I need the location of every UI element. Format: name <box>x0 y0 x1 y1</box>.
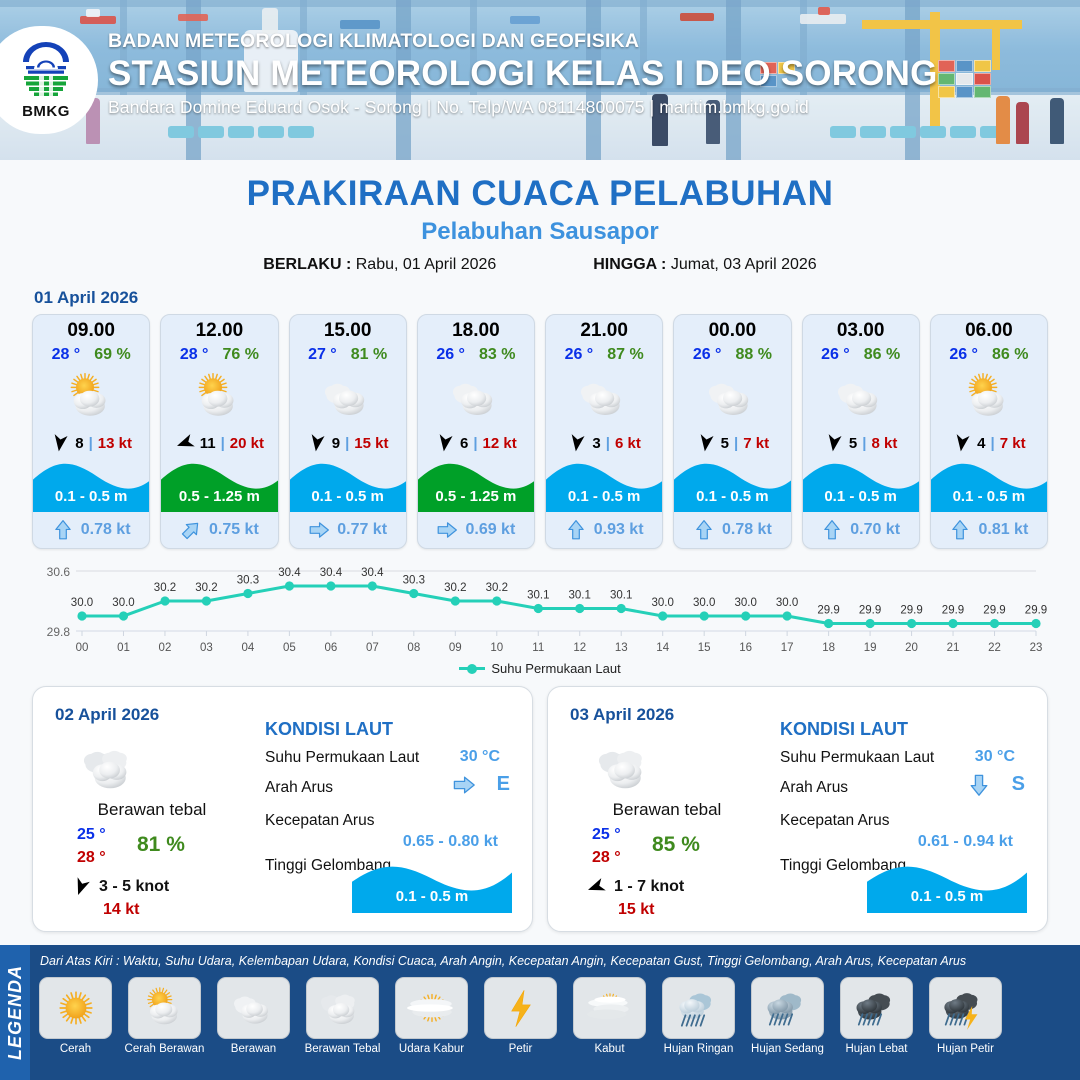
svg-text:10: 10 <box>490 642 503 654</box>
card-wind-row: 5 | 8 kt <box>803 433 919 453</box>
svg-text:30.2: 30.2 <box>444 582 466 594</box>
legend-note: Dari Atas Kiri : Waktu, Suhu Udara, Kele… <box>40 954 966 968</box>
card-temperature: 27 ° <box>308 346 337 364</box>
wind-direction-arrow-icon <box>567 433 587 453</box>
forecast-day-label: 01 April 2026 <box>34 288 1080 308</box>
svg-text:22: 22 <box>988 642 1001 654</box>
current-direction-arrow-icon <box>308 519 330 541</box>
card-wave-block: 0.1 - 0.5 m <box>546 458 662 512</box>
wind-separator: | <box>345 435 349 452</box>
card-wave-height: 0.1 - 0.5 m <box>931 488 1047 505</box>
card-wave-block: 0.1 - 0.5 m <box>674 458 790 512</box>
weather-berawan-tebal-icon <box>594 735 660 801</box>
svg-text:08: 08 <box>407 642 420 654</box>
svg-text:29.8: 29.8 <box>47 625 71 639</box>
panel-temp-max: 28 ° <box>592 846 621 869</box>
legend-item: Cerah Berawan <box>123 977 206 1055</box>
svg-text:30.1: 30.1 <box>527 590 549 602</box>
card-humidity: 69 % <box>94 346 130 364</box>
svg-text:14: 14 <box>656 642 669 654</box>
header-text-block: BADAN METEOROLOGI KLIMATOLOGI DAN GEOFIS… <box>108 30 938 118</box>
card-time: 03.00 <box>803 320 919 342</box>
legend-item-label: Berawan Tebal <box>301 1043 384 1055</box>
svg-text:30.0: 30.0 <box>652 597 674 609</box>
weather-cerah-berawan-icon <box>33 366 149 428</box>
card-temperature: 26 ° <box>436 346 465 364</box>
legend-item-label: Hujan Sedang <box>746 1043 829 1055</box>
svg-text:30.1: 30.1 <box>610 590 632 602</box>
svg-text:16: 16 <box>739 642 752 654</box>
card-wave-height: 0.1 - 0.5 m <box>33 488 149 505</box>
legend-item: Kabut <box>568 977 651 1055</box>
weather-hujan-ringan-icon <box>662 977 735 1039</box>
legend-item-label: Hujan Lebat <box>835 1043 918 1055</box>
panel-wind-speed: 1 - 7 knot <box>614 878 684 896</box>
current-direction-label: Arah Arus <box>780 779 848 797</box>
current-direction-arrow-icon <box>52 519 74 541</box>
wind-separator: | <box>734 435 738 452</box>
svg-text:29.9: 29.9 <box>942 605 964 617</box>
valid-until-label: HINGGA : <box>593 256 666 273</box>
card-wind-speed: 4 <box>977 435 985 452</box>
card-wind-row: 8 | 13 kt <box>33 433 149 453</box>
current-direction-arrow-icon <box>967 773 991 797</box>
agency-name: BADAN METEOROLOGI KLIMATOLOGI DAN GEOFIS… <box>108 30 938 53</box>
panel-wave-block: 0.1 - 0.5 m <box>352 861 512 913</box>
daily-forecast-panel: 02 April 2026 Berawan tebal 25 ° 28 ° 81… <box>32 686 533 932</box>
current-direction-arrow-icon <box>436 519 458 541</box>
hourly-forecast-card: 12.00 28 ° 76 % 11 | 20 kt <box>160 314 278 549</box>
card-wave-height: 0.5 - 1.25 m <box>418 488 534 505</box>
svg-text:05: 05 <box>283 642 296 654</box>
svg-text:17: 17 <box>781 642 794 654</box>
card-humidity: 88 % <box>735 346 771 364</box>
panel-temperature-range: 25 ° 28 ° <box>77 823 106 869</box>
svg-text:30.2: 30.2 <box>195 582 217 594</box>
panel-date: 03 April 2026 <box>570 705 674 725</box>
weather-cerah-berawan-icon <box>161 366 277 428</box>
current-direction-arrow-icon <box>565 519 587 541</box>
panel-wave-height: 0.1 - 0.5 m <box>867 888 1027 905</box>
panel-temp-max: 28 ° <box>77 846 106 869</box>
wind-direction-arrow-icon <box>696 433 716 453</box>
svg-text:30.0: 30.0 <box>735 597 757 609</box>
card-wind-row: 9 | 15 kt <box>290 433 406 453</box>
weather-berawan-tebal-icon <box>79 735 145 801</box>
svg-text:04: 04 <box>242 642 255 654</box>
legend-item-label: Hujan Ringan <box>657 1043 740 1055</box>
hourly-forecast-card: 00.00 26 ° 88 % 5 | 7 kt 0 <box>673 314 791 549</box>
card-current-speed: 0.78 kt <box>81 521 131 539</box>
weather-hujan-lebat-icon <box>840 977 913 1039</box>
svg-text:12: 12 <box>573 642 586 654</box>
card-gust: 12 kt <box>483 435 517 452</box>
legend-item: Udara Kabur <box>390 977 473 1055</box>
svg-text:30.4: 30.4 <box>361 567 384 579</box>
card-wave-height: 0.1 - 0.5 m <box>803 488 919 505</box>
panel-temperature-range: 25 ° 28 ° <box>592 823 621 869</box>
wind-direction-arrow-icon <box>824 433 844 453</box>
page-header: BMKG BADAN METEOROLOGI KLIMATOLOGI DAN G… <box>0 0 1080 160</box>
card-time: 18.00 <box>418 320 534 342</box>
card-temperature: 28 ° <box>52 346 81 364</box>
current-direction-label: Arah Arus <box>265 779 333 797</box>
hourly-forecast-card: 21.00 26 ° 87 % 3 | 6 kt 0 <box>545 314 663 549</box>
hourly-forecast-card: 15.00 27 ° 81 % 9 | 15 kt <box>289 314 407 549</box>
wind-direction-arrow-icon <box>71 877 91 897</box>
card-wind-speed: 9 <box>332 435 340 452</box>
hourly-forecast-card: 03.00 26 ° 86 % 5 | 8 kt 0 <box>802 314 920 549</box>
card-current-row: 0.70 kt <box>803 512 919 548</box>
card-wind-row: 3 | 6 kt <box>546 433 662 453</box>
daily-forecast-panel: 03 April 2026 Berawan tebal 25 ° 28 ° 85… <box>547 686 1048 932</box>
card-current-speed: 0.75 kt <box>209 521 259 539</box>
card-current-row: 0.69 kt <box>418 512 534 548</box>
svg-text:29.9: 29.9 <box>1025 605 1047 617</box>
card-gust: 13 kt <box>98 435 132 452</box>
svg-text:06: 06 <box>324 642 337 654</box>
card-current-speed: 0.81 kt <box>978 521 1028 539</box>
svg-text:18: 18 <box>822 642 835 654</box>
legend-item-label: Cerah Berawan <box>123 1043 206 1055</box>
current-speed-label: Kecepatan Arus <box>265 812 374 830</box>
svg-text:30.0: 30.0 <box>693 597 715 609</box>
current-speed-value: 0.61 - 0.94 kt <box>918 833 1013 851</box>
card-wave-block: 0.1 - 0.5 m <box>290 458 406 512</box>
wind-separator: | <box>221 435 225 452</box>
card-wave-height: 0.1 - 0.5 m <box>290 488 406 505</box>
card-current-speed: 0.70 kt <box>850 521 900 539</box>
title-block: PRAKIRAAN CUACA PELABUHAN Pelabuhan Saus… <box>0 160 1080 274</box>
legend-item: Hujan Lebat <box>835 977 918 1055</box>
svg-text:29.9: 29.9 <box>900 605 922 617</box>
card-wave-height: 0.1 - 0.5 m <box>674 488 790 505</box>
svg-text:19: 19 <box>864 642 877 654</box>
sst-label: Suhu Permukaan Laut <box>780 749 934 767</box>
panel-gust: 14 kt <box>103 901 139 919</box>
card-gust: 7 kt <box>743 435 769 452</box>
chart-legend-label: Suhu Permukaan Laut <box>491 661 620 676</box>
card-wind-speed: 3 <box>592 435 600 452</box>
current-direction-value: E <box>497 773 510 796</box>
svg-text:00: 00 <box>76 642 89 654</box>
card-temp-humidity-row: 28 ° 69 % <box>33 346 149 364</box>
wind-separator: | <box>606 435 610 452</box>
weather-kabut-icon <box>573 977 646 1039</box>
current-direction-arrow-icon <box>693 519 715 541</box>
card-wave-block: 0.5 - 1.25 m <box>418 458 534 512</box>
weather-cerah-berawan-icon <box>128 977 201 1039</box>
card-humidity: 86 % <box>992 346 1028 364</box>
current-speed-value: 0.65 - 0.80 kt <box>403 833 498 851</box>
current-direction-arrow-icon <box>452 773 476 797</box>
card-humidity: 86 % <box>864 346 900 364</box>
wind-direction-arrow-icon <box>175 433 195 453</box>
card-temp-humidity-row: 26 ° 87 % <box>546 346 662 364</box>
card-gust: 15 kt <box>354 435 388 452</box>
weather-udara-kabur-icon <box>395 977 468 1039</box>
panel-temp-min: 25 ° <box>77 823 106 846</box>
legend-item: Berawan <box>212 977 295 1055</box>
card-wind-speed: 5 <box>849 435 857 452</box>
svg-text:30.2: 30.2 <box>154 582 176 594</box>
legend-bar: LEGENDA Dari Atas Kiri : Waktu, Suhu Uda… <box>0 945 1080 1080</box>
weather-petir-icon <box>484 977 557 1039</box>
svg-text:20: 20 <box>905 642 918 654</box>
station-name: STASIUN METEOROLOGI KELAS I DEO SORONG <box>108 53 938 94</box>
card-wave-block: 0.1 - 0.5 m <box>33 458 149 512</box>
card-current-row: 0.78 kt <box>674 512 790 548</box>
page-title: PRAKIRAAN CUACA PELABUHAN <box>0 174 1080 214</box>
hourly-forecast-card: 09.00 28 ° 69 % 8 | 13 kt <box>32 314 150 549</box>
card-wave-block: 0.1 - 0.5 m <box>931 458 1047 512</box>
panel-condition: Berawan tebal <box>47 800 257 820</box>
svg-text:29.9: 29.9 <box>817 605 839 617</box>
panel-gust: 15 kt <box>618 901 654 919</box>
valid-until-value: Jumat, 03 April 2026 <box>671 256 817 273</box>
svg-text:30.0: 30.0 <box>112 597 134 609</box>
legend-item-label: Cerah <box>34 1043 117 1055</box>
weather-hujan-petir-icon <box>929 977 1002 1039</box>
card-time: 12.00 <box>161 320 277 342</box>
card-gust: 20 kt <box>230 435 264 452</box>
card-wind-speed: 8 <box>75 435 83 452</box>
bmkg-logo-mark <box>15 40 77 102</box>
wind-direction-arrow-icon <box>435 433 455 453</box>
card-temp-humidity-row: 26 ° 83 % <box>418 346 534 364</box>
svg-text:23: 23 <box>1030 642 1043 654</box>
legend-item: Hujan Petir <box>924 977 1007 1055</box>
card-temperature: 26 ° <box>949 346 978 364</box>
svg-text:30.4: 30.4 <box>320 567 343 579</box>
svg-text:03: 03 <box>200 642 213 654</box>
svg-text:09: 09 <box>449 642 462 654</box>
svg-text:01: 01 <box>117 642 130 654</box>
current-direction-value: S <box>1012 773 1025 796</box>
panel-date: 02 April 2026 <box>55 705 159 725</box>
card-time: 21.00 <box>546 320 662 342</box>
legend-icon-list: Cerah Cerah Berawan <box>34 977 1074 1055</box>
weather-berawan-icon <box>290 366 406 428</box>
panel-humidity: 85 % <box>652 833 700 857</box>
card-temp-humidity-row: 26 ° 88 % <box>674 346 790 364</box>
hourly-forecast-card: 06.00 26 ° 86 % 4 | 7 kt 0 <box>930 314 1048 549</box>
card-gust: 6 kt <box>615 435 641 452</box>
card-temp-humidity-row: 26 ° 86 % <box>931 346 1047 364</box>
bmkg-logo-text: BMKG <box>22 103 70 120</box>
legend-item-label: Petir <box>479 1043 562 1055</box>
weather-cerah-icon <box>39 977 112 1039</box>
card-current-row: 0.81 kt <box>931 512 1047 548</box>
weather-berawan-icon <box>418 366 534 428</box>
validity-row: BERLAKU : Rabu, 01 April 2026 HINGGA : J… <box>0 256 1080 274</box>
card-humidity: 76 % <box>222 346 258 364</box>
card-wave-height: 0.1 - 0.5 m <box>546 488 662 505</box>
legend-item-label: Kabut <box>568 1043 651 1055</box>
card-time: 00.00 <box>674 320 790 342</box>
card-temp-humidity-row: 28 ° 76 % <box>161 346 277 364</box>
wind-direction-arrow-icon <box>307 433 327 453</box>
legend-side-text: LEGENDA <box>5 965 26 1060</box>
wind-separator: | <box>89 435 93 452</box>
legend-item-label: Udara Kabur <box>390 1043 473 1055</box>
card-temperature: 26 ° <box>565 346 594 364</box>
card-wind-row: 6 | 12 kt <box>418 433 534 453</box>
card-current-row: 0.93 kt <box>546 512 662 548</box>
card-humidity: 83 % <box>479 346 515 364</box>
panel-wind-row: 1 - 7 knot <box>586 877 684 897</box>
sst-value: 30 °C <box>460 748 500 766</box>
sea-condition-title: KONDISI LAUT <box>780 719 908 740</box>
current-direction-arrow-icon <box>180 519 202 541</box>
wind-direction-arrow-icon <box>952 433 972 453</box>
sst-value: 30 °C <box>975 748 1015 766</box>
card-current-row: 0.75 kt <box>161 512 277 548</box>
svg-text:30.2: 30.2 <box>486 582 508 594</box>
card-wind-speed: 6 <box>460 435 468 452</box>
panel-humidity: 81 % <box>137 833 185 857</box>
weather-hujan-sedang-icon <box>751 977 824 1039</box>
legend-item-label: Berawan <box>212 1043 295 1055</box>
card-wind-speed: 5 <box>721 435 729 452</box>
card-wind-row: 11 | 20 kt <box>161 433 277 453</box>
sea-surface-temperature-chart: 30.629.800010203040506070809101112131415… <box>30 559 1050 659</box>
card-current-speed: 0.77 kt <box>337 521 387 539</box>
svg-text:29.9: 29.9 <box>859 605 881 617</box>
card-temperature: 26 ° <box>821 346 850 364</box>
legend-line-marker <box>459 667 485 670</box>
wind-separator: | <box>991 435 995 452</box>
weather-berawan-icon <box>674 366 790 428</box>
svg-text:30.6: 30.6 <box>47 565 71 579</box>
card-current-speed: 0.78 kt <box>722 521 772 539</box>
wind-separator: | <box>473 435 477 452</box>
card-time: 06.00 <box>931 320 1047 342</box>
card-current-row: 0.77 kt <box>290 512 406 548</box>
svg-text:13: 13 <box>615 642 628 654</box>
card-temperature: 26 ° <box>693 346 722 364</box>
svg-text:11: 11 <box>532 642 544 654</box>
card-temperature: 28 ° <box>180 346 209 364</box>
card-time: 15.00 <box>290 320 406 342</box>
card-gust: 7 kt <box>1000 435 1026 452</box>
svg-text:07: 07 <box>366 642 379 654</box>
card-current-row: 0.78 kt <box>33 512 149 548</box>
daily-forecast-panels: 02 April 2026 Berawan tebal 25 ° 28 ° 81… <box>0 676 1080 932</box>
svg-text:21: 21 <box>947 642 960 654</box>
legend-item: Petir <box>479 977 562 1055</box>
card-current-speed: 0.69 kt <box>465 521 515 539</box>
weather-berawan-icon <box>546 366 662 428</box>
card-wind-speed: 11 <box>200 435 216 452</box>
wind-direction-arrow-icon <box>586 877 606 897</box>
hourly-forecast-card: 18.00 26 ° 83 % 6 | 12 kt <box>417 314 535 549</box>
sst-label: Suhu Permukaan Laut <box>265 749 419 767</box>
card-wave-block: 0.1 - 0.5 m <box>803 458 919 512</box>
svg-text:30.4: 30.4 <box>278 567 301 579</box>
current-direction-arrow-icon <box>949 519 971 541</box>
svg-text:29.9: 29.9 <box>983 605 1005 617</box>
weather-berawan-icon <box>803 366 919 428</box>
legend-side-title: LEGENDA <box>0 945 30 1080</box>
panel-wind-row: 3 - 5 knot <box>71 877 169 897</box>
wind-separator: | <box>862 435 866 452</box>
station-contact: Bandara Domine Eduard Osok - Sorong | No… <box>108 97 938 118</box>
legend-item: Hujan Sedang <box>746 977 829 1055</box>
legend-item: Cerah <box>34 977 117 1055</box>
card-humidity: 81 % <box>351 346 387 364</box>
card-wind-row: 4 | 7 kt <box>931 433 1047 453</box>
svg-text:02: 02 <box>159 642 172 654</box>
panel-wave-block: 0.1 - 0.5 m <box>867 861 1027 913</box>
card-wave-block: 0.5 - 1.25 m <box>161 458 277 512</box>
page-subtitle: Pelabuhan Sausapor <box>0 218 1080 246</box>
card-time: 09.00 <box>33 320 149 342</box>
card-temp-humidity-row: 27 ° 81 % <box>290 346 406 364</box>
sea-condition-title: KONDISI LAUT <box>265 719 393 740</box>
current-speed-label: Kecepatan Arus <box>780 812 889 830</box>
current-direction-arrow-icon <box>821 519 843 541</box>
card-temp-humidity-row: 26 ° 86 % <box>803 346 919 364</box>
legend-item-label: Hujan Petir <box>924 1043 1007 1055</box>
card-wave-height: 0.5 - 1.25 m <box>161 488 277 505</box>
svg-text:30.3: 30.3 <box>403 575 425 587</box>
weather-cerah-berawan-icon <box>931 366 1047 428</box>
card-humidity: 87 % <box>607 346 643 364</box>
valid-from-label: BERLAKU : <box>263 256 351 273</box>
chart-legend: Suhu Permukaan Laut <box>0 661 1080 676</box>
valid-from-value: Rabu, 01 April 2026 <box>356 256 497 273</box>
card-wind-row: 5 | 7 kt <box>674 433 790 453</box>
card-current-speed: 0.93 kt <box>594 521 644 539</box>
wind-direction-arrow-icon <box>50 433 70 453</box>
panel-wave-height: 0.1 - 0.5 m <box>352 888 512 905</box>
svg-text:30.0: 30.0 <box>71 597 93 609</box>
panel-temp-min: 25 ° <box>592 823 621 846</box>
weather-berawan-tebal-icon <box>306 977 379 1039</box>
svg-text:30.3: 30.3 <box>237 575 259 587</box>
panel-wind-speed: 3 - 5 knot <box>99 878 169 896</box>
weather-berawan-icon <box>217 977 290 1039</box>
svg-text:30.1: 30.1 <box>569 590 591 602</box>
card-gust: 8 kt <box>871 435 897 452</box>
svg-text:15: 15 <box>698 642 711 654</box>
svg-text:30.0: 30.0 <box>776 597 798 609</box>
legend-item: Berawan Tebal <box>301 977 384 1055</box>
legend-item: Hujan Ringan <box>657 977 740 1055</box>
panel-condition: Berawan tebal <box>562 800 772 820</box>
hourly-forecast-row: 09.00 28 ° 69 % 8 | 13 kt <box>0 314 1080 549</box>
